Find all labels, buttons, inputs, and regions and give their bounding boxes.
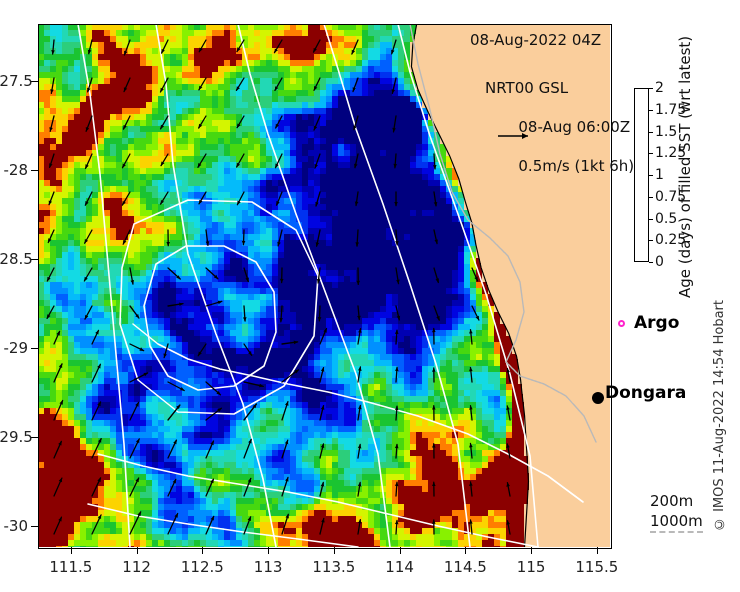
- product-line-1: NRT00 GSL: [485, 79, 568, 97]
- x-tick: [465, 547, 466, 554]
- date-stamp: 08-Aug-2022 04Z: [470, 31, 601, 51]
- y-tick-label: -27.5: [0, 72, 28, 90]
- y-tick: [31, 170, 38, 171]
- argo-marker-icon[interactable]: [618, 320, 625, 327]
- x-tick-label: 114: [385, 558, 414, 576]
- credit-text: © IMOS 11-Aug-2022 14:54 Hobart: [712, 300, 727, 531]
- y-tick: [31, 526, 38, 527]
- x-tick: [597, 547, 598, 554]
- figure-root: 08-Aug-2022 04Z NRT00 GSL 08-Aug 06:00Z …: [0, 0, 740, 592]
- colorbar-title: Age (days) of filled SST (wrt latest): [676, 18, 698, 298]
- product-info-block: NRT00 GSL 08-Aug 06:00Z 0.5m/s (1kt 6h): [485, 79, 634, 177]
- colorbar-tick-label: 1: [655, 167, 664, 183]
- x-tick: [334, 547, 335, 554]
- x-tick-label: 115.5: [575, 558, 618, 576]
- x-tick-label: 114.5: [444, 558, 487, 576]
- y-tick-label: -28.5: [0, 250, 28, 268]
- bathymetry-key: 200m 1000m: [650, 492, 703, 532]
- x-tick: [268, 547, 269, 554]
- bathy-200m-label: 200m: [650, 492, 693, 513]
- x-tick-label: 111.5: [49, 558, 92, 576]
- dongara-label: Dongara: [605, 383, 686, 403]
- velocity-scale-arrow-icon: [497, 131, 533, 141]
- colorbar-tick: [649, 197, 653, 198]
- x-tick-label: 113: [254, 558, 283, 576]
- colorbar-tick: [649, 262, 653, 263]
- x-tick-label: 115: [517, 558, 546, 576]
- colorbar-tick: [649, 110, 653, 111]
- y-tick-label: -29: [0, 339, 28, 357]
- x-tick-label: 112.5: [181, 558, 224, 576]
- colorbar-tick-label: 0: [655, 254, 664, 270]
- product-line-2: 08-Aug 06:00Z: [518, 118, 630, 136]
- y-tick-label: -29.5: [0, 428, 28, 446]
- colorbar-tick: [649, 175, 653, 176]
- x-tick-label: 113.5: [312, 558, 355, 576]
- y-tick: [31, 348, 38, 349]
- bathy-1000m-label: 1000m: [650, 512, 703, 533]
- colorbar: [634, 88, 649, 262]
- colorbar-tick: [649, 88, 653, 89]
- x-tick: [137, 547, 138, 554]
- product-line-3: 0.5m/s (1kt 6h): [518, 157, 634, 175]
- x-tick: [202, 547, 203, 554]
- colorbar-tick: [649, 153, 653, 154]
- x-tick-label: 112: [122, 558, 151, 576]
- x-tick: [531, 547, 532, 554]
- dongara-marker-icon[interactable]: [592, 392, 604, 404]
- x-tick: [71, 547, 72, 554]
- x-tick: [400, 547, 401, 554]
- colorbar-tick-label: 0.5: [655, 211, 677, 227]
- colorbar-tick-label: 2: [655, 80, 664, 96]
- colorbar-tick-label: 1.5: [655, 124, 677, 140]
- colorbar-tick: [649, 240, 653, 241]
- colorbar-tick: [649, 132, 653, 133]
- colorbar-tick: [649, 219, 653, 220]
- y-tick-label: -30: [0, 517, 28, 535]
- y-tick-label: -28: [0, 161, 28, 179]
- argo-label: Argo: [634, 313, 679, 333]
